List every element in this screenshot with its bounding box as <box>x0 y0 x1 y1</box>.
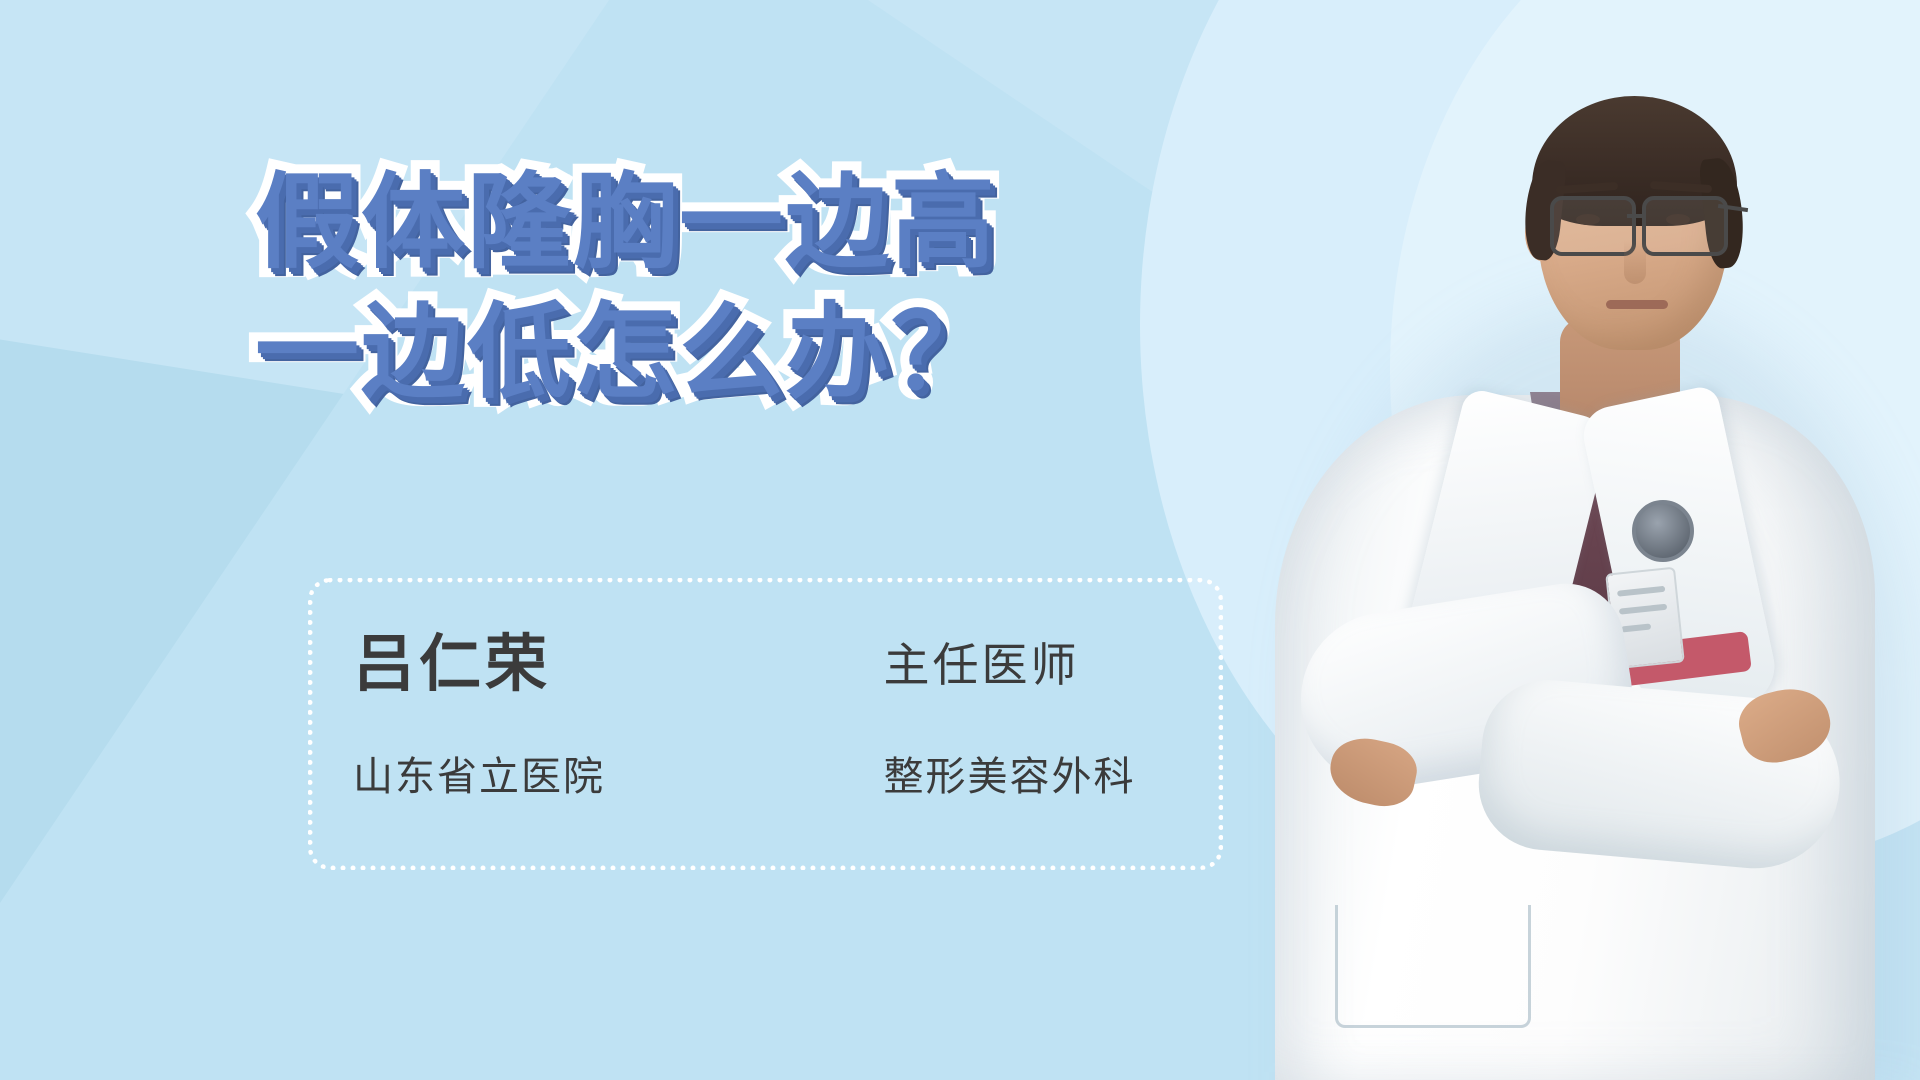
doctor-info-card: 吕仁荣 主任医师 山东省立医院 整形美容外科 <box>308 578 1223 870</box>
coat-pocket <box>1335 905 1531 1028</box>
id-badge-line <box>1617 586 1665 597</box>
doctor-rank: 主任医师 <box>766 642 1219 688</box>
doctor-portrait-image <box>1180 0 1920 1080</box>
headline-line-2: 一边低怎么办？ <box>255 290 1155 416</box>
id-badge-line <box>1621 623 1651 632</box>
doctor-info-grid: 吕仁荣 主任医师 山东省立医院 整形美容外科 <box>313 583 1218 865</box>
id-badge-line <box>1619 604 1667 615</box>
doctor-hospital: 山东省立医院 <box>313 757 766 797</box>
doctor-name: 吕仁荣 <box>313 634 766 696</box>
headline-line-1: 假体隆胸一边高 <box>255 160 1155 286</box>
eyeglasses-bridge <box>1627 214 1645 218</box>
stethoscope-chestpiece <box>1632 500 1694 562</box>
doctor-department: 整形美容外科 <box>766 757 1219 797</box>
nose <box>1624 240 1646 284</box>
poster-canvas: 假体隆胸一边高 一边低怎么办？ 吕仁荣 主任医师 山东省立医院 整形美容外科 <box>0 0 1920 1080</box>
headline: 假体隆胸一边高 一边低怎么办？ <box>255 160 1155 416</box>
eyeglasses-lens-right <box>1642 196 1728 256</box>
mouth <box>1606 300 1668 309</box>
